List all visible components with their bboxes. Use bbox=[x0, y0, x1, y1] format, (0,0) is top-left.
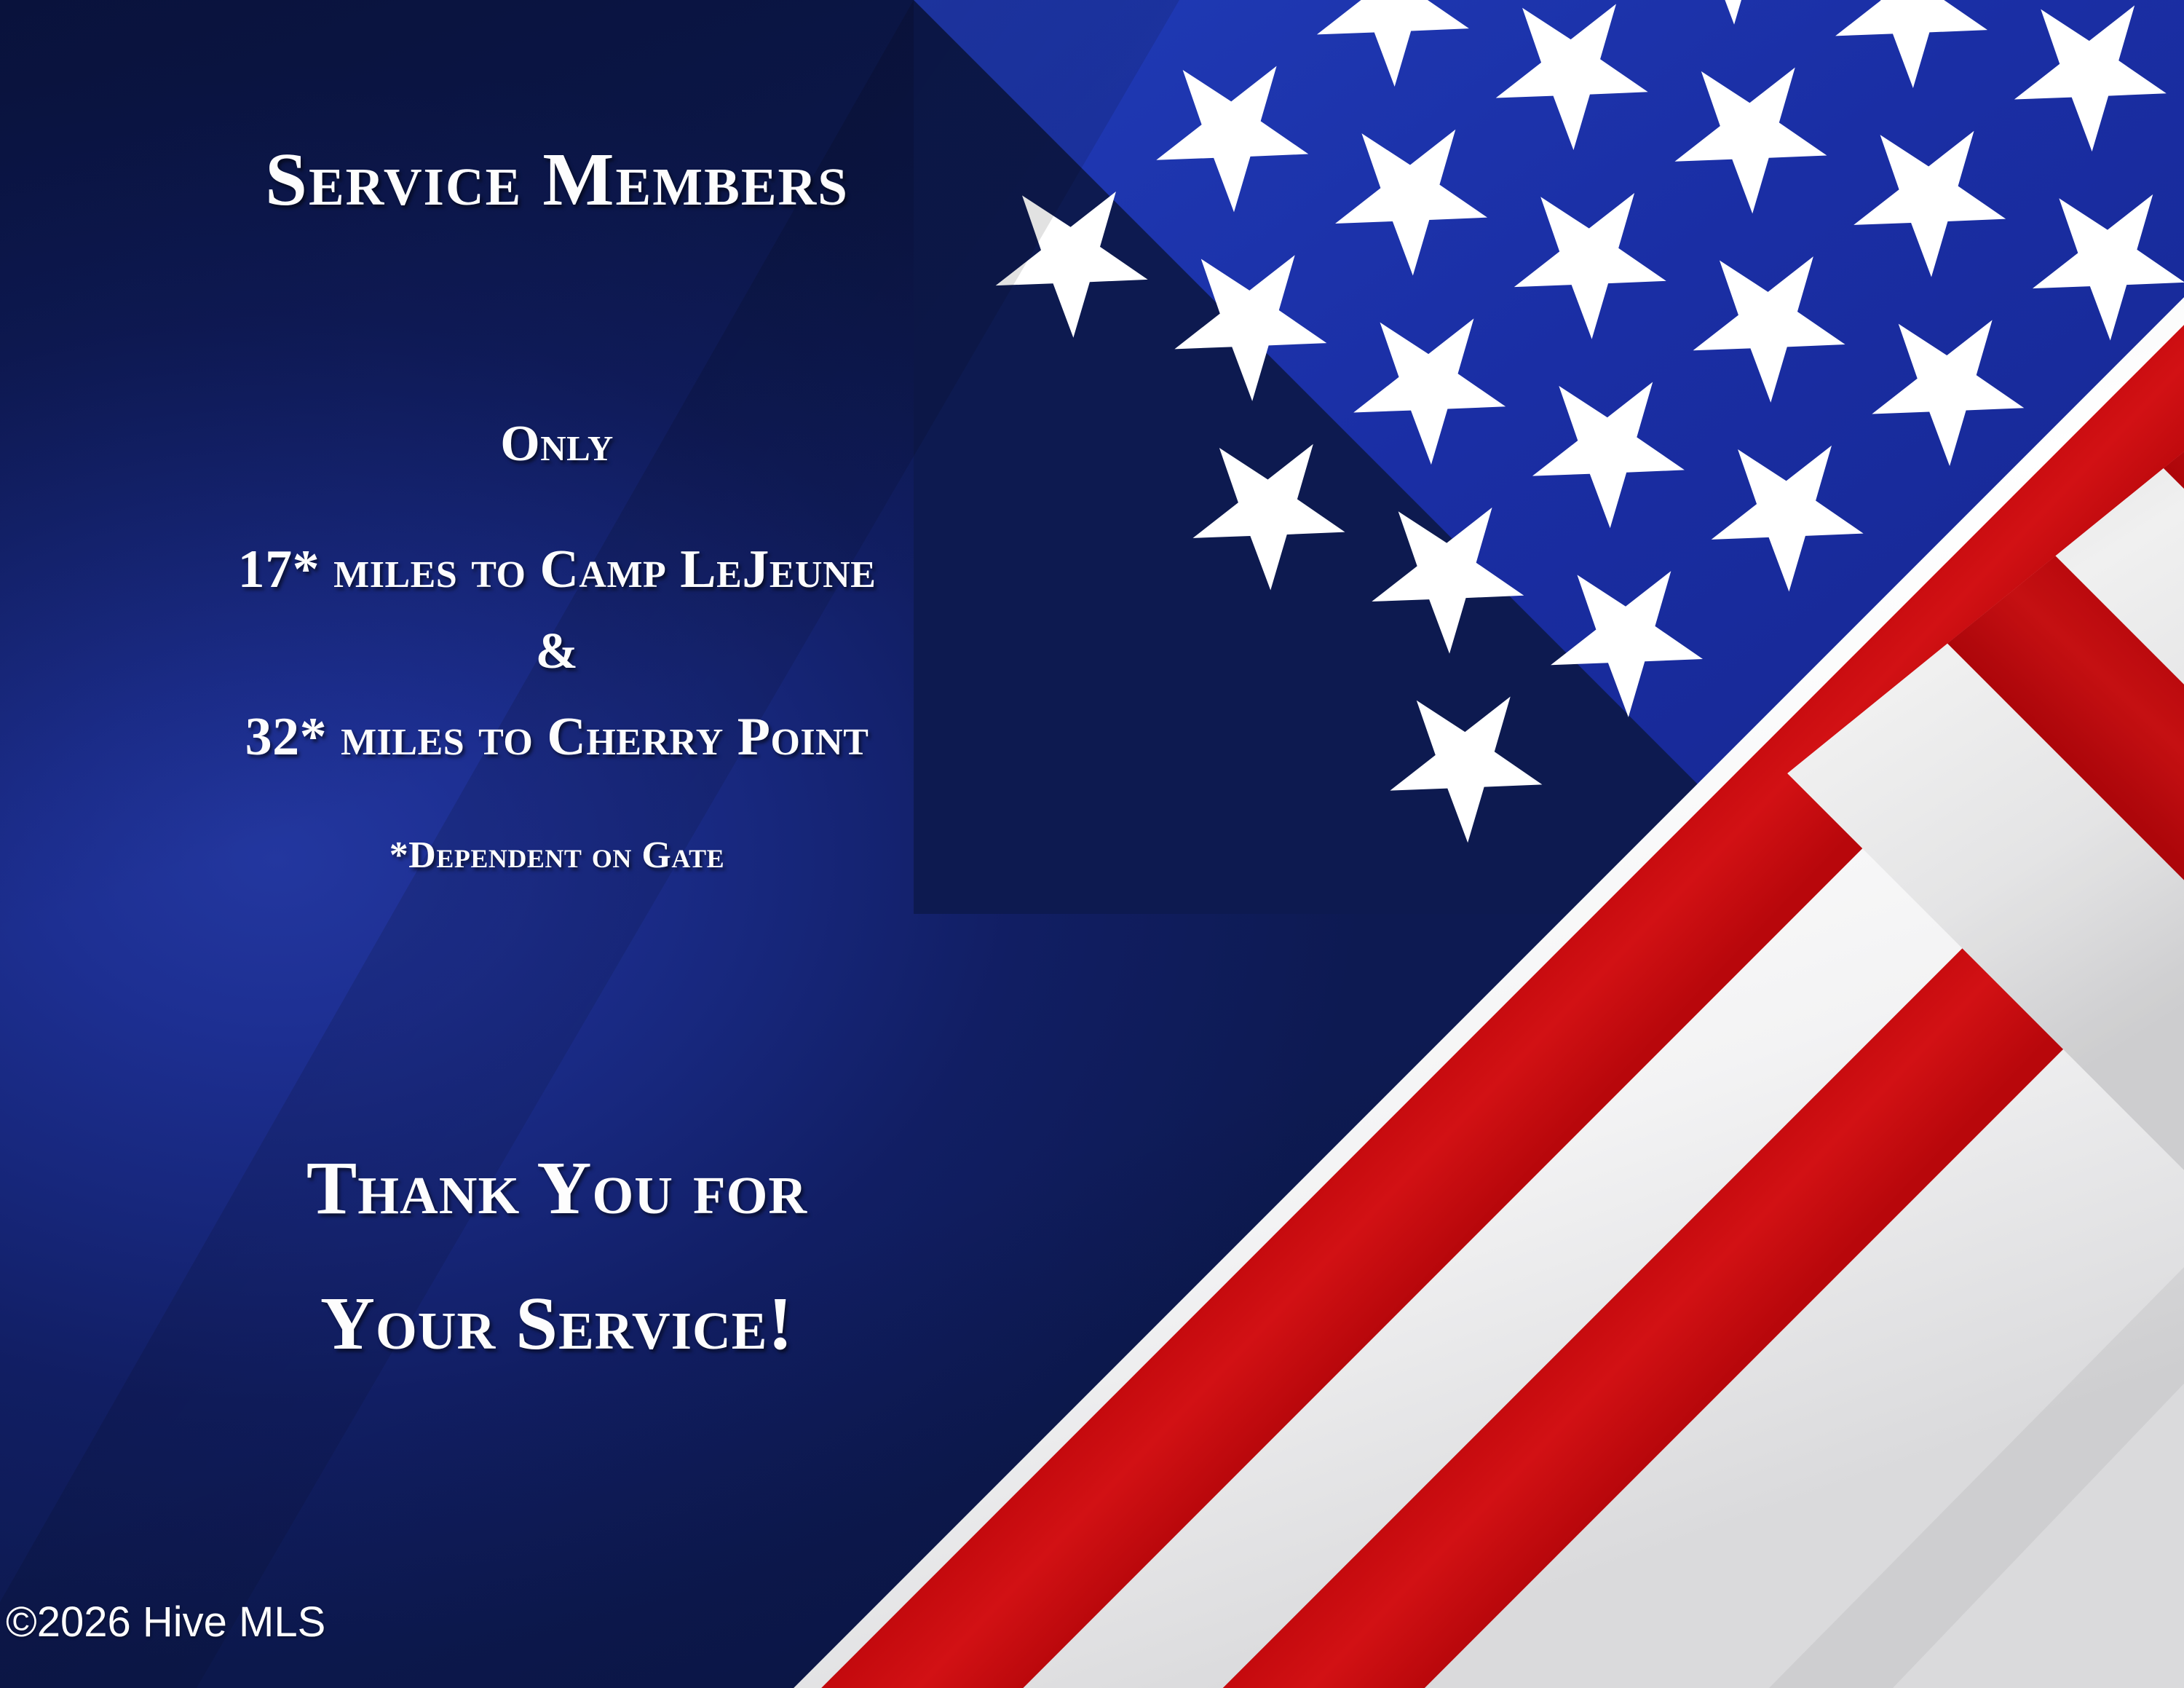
footnote: *Dependent on Gate bbox=[0, 834, 1114, 877]
headline: Service Members bbox=[0, 136, 1114, 223]
distance-lejeune: 17* miles to Camp LeJeune bbox=[0, 539, 1114, 601]
thanks-line-1: Thank You for bbox=[0, 1145, 1114, 1231]
subhead: Only bbox=[0, 415, 1114, 473]
conjunction: & bbox=[0, 623, 1114, 681]
message-block: Service Members Only 17* miles to Camp L… bbox=[0, 0, 1114, 1688]
thanks-line-2: Your Service! bbox=[0, 1280, 1114, 1367]
copyright-notice: ©2026 Hive MLS bbox=[6, 1598, 325, 1646]
distance-cherry-point: 32* miles to Cherry Point bbox=[0, 706, 1114, 768]
poster-canvas: Service Members Only 17* miles to Camp L… bbox=[0, 0, 2184, 1688]
